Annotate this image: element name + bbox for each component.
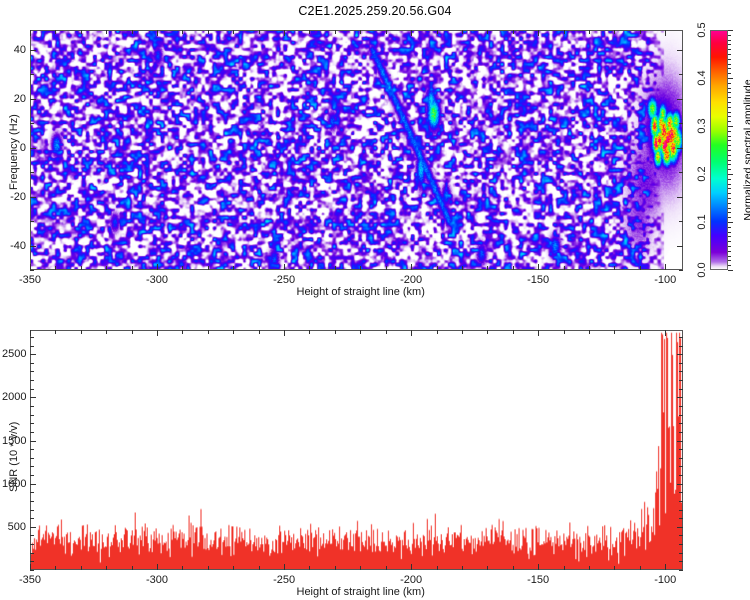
x-minor-bottom bbox=[640, 266, 641, 270]
x-tick bbox=[665, 564, 666, 570]
x-minor-top bbox=[513, 30, 514, 34]
x-minor-top bbox=[259, 330, 260, 334]
colorbar-minor-tick bbox=[728, 102, 731, 103]
x-minor-bottom bbox=[132, 266, 133, 270]
y-tick-right bbox=[677, 50, 683, 51]
colorbar-tick-label: 0.4 bbox=[696, 70, 708, 85]
x-tick-label: -100 bbox=[654, 274, 676, 286]
x-minor-bottom bbox=[208, 566, 209, 570]
spectrogram-image bbox=[31, 31, 682, 269]
x-minor-bottom bbox=[462, 266, 463, 270]
x-minor-bottom bbox=[55, 566, 56, 570]
x-minor-top bbox=[487, 30, 488, 34]
x-minor-top bbox=[487, 330, 488, 334]
x-minor-bottom bbox=[259, 566, 260, 570]
x-minor-bottom bbox=[513, 566, 514, 570]
y-minor-right bbox=[679, 380, 683, 381]
x-minor-top bbox=[437, 30, 438, 34]
y-minor-left bbox=[30, 561, 34, 562]
y-minor-left bbox=[30, 123, 34, 124]
colorbar-label: Normalized spectral amplitude bbox=[742, 79, 750, 220]
x-minor-bottom bbox=[81, 566, 82, 570]
y-minor-right bbox=[679, 501, 683, 502]
colorbar-minor-tick bbox=[728, 40, 731, 41]
y-tick bbox=[30, 354, 36, 355]
colorbar-minor-tick bbox=[728, 68, 731, 69]
y-minor-left bbox=[30, 389, 34, 390]
y-minor-left bbox=[30, 492, 34, 493]
colorbar-minor-tick bbox=[728, 246, 731, 247]
x-minor-top bbox=[513, 330, 514, 334]
colorbar-minor-tick bbox=[728, 92, 731, 93]
y-tick-right bbox=[677, 441, 683, 442]
x-tick bbox=[157, 564, 158, 570]
y-minor-right bbox=[679, 510, 683, 511]
x-tick-label: -300 bbox=[146, 574, 168, 586]
colorbar-minor-tick bbox=[728, 59, 731, 60]
y-tick bbox=[30, 441, 36, 442]
colorbar-minor-tick bbox=[728, 188, 731, 189]
x-minor-bottom bbox=[81, 266, 82, 270]
x-minor-top bbox=[208, 330, 209, 334]
page-title: C2E1.2025.259.20.56.G04 bbox=[0, 4, 750, 18]
x-minor-top bbox=[208, 30, 209, 34]
y-minor-left bbox=[30, 553, 34, 554]
y-minor-left bbox=[30, 270, 34, 271]
colorbar-minor-tick bbox=[728, 256, 731, 257]
y-minor-right bbox=[679, 123, 683, 124]
x-tick bbox=[665, 264, 666, 270]
y-tick-label: 20 bbox=[2, 93, 26, 105]
y-tick bbox=[30, 50, 36, 51]
y-minor-right bbox=[679, 544, 683, 545]
y-minor-right bbox=[679, 466, 683, 467]
spectrogram-plot-area bbox=[30, 30, 683, 270]
x-tick-label: -250 bbox=[273, 274, 295, 286]
colorbar-minor-tick bbox=[728, 160, 731, 161]
y-tick bbox=[30, 99, 36, 100]
y-minor-left bbox=[30, 380, 34, 381]
y-minor-left bbox=[30, 221, 34, 222]
x-minor-bottom bbox=[335, 566, 336, 570]
x-tick-top bbox=[538, 330, 539, 336]
x-minor-top bbox=[614, 30, 615, 34]
y-minor-right bbox=[679, 172, 683, 173]
y-tick-right bbox=[677, 354, 683, 355]
y-minor-right bbox=[679, 363, 683, 364]
y-tick bbox=[30, 197, 36, 198]
x-minor-bottom bbox=[513, 266, 514, 270]
x-tick-label: -200 bbox=[400, 274, 422, 286]
x-minor-top bbox=[360, 30, 361, 34]
y-minor-left bbox=[30, 415, 34, 416]
snr-x-axis-label: Height of straight line (km) bbox=[297, 586, 425, 598]
x-minor-bottom bbox=[259, 266, 260, 270]
x-tick bbox=[284, 264, 285, 270]
y-tick-label: -20 bbox=[2, 191, 26, 203]
colorbar-minor-tick bbox=[728, 236, 731, 237]
x-minor-top bbox=[106, 330, 107, 334]
x-minor-bottom bbox=[233, 566, 234, 570]
x-minor-bottom bbox=[614, 566, 615, 570]
x-minor-top bbox=[309, 330, 310, 334]
colorbar-minor-tick bbox=[728, 145, 731, 146]
x-minor-top bbox=[360, 330, 361, 334]
x-minor-top bbox=[81, 330, 82, 334]
colorbar-minor-tick bbox=[728, 232, 731, 233]
colorbar-minor-tick bbox=[728, 179, 731, 180]
x-minor-bottom bbox=[589, 266, 590, 270]
colorbar-minor-tick bbox=[728, 217, 731, 218]
x-minor-top bbox=[614, 330, 615, 334]
colorbar-minor-tick bbox=[728, 150, 731, 151]
x-tick-top bbox=[411, 30, 412, 36]
x-minor-bottom bbox=[360, 266, 361, 270]
x-minor-top bbox=[335, 30, 336, 34]
x-tick-top bbox=[284, 30, 285, 36]
y-minor-left bbox=[30, 432, 34, 433]
x-tick-label: -100 bbox=[654, 574, 676, 586]
snr-line-series bbox=[31, 331, 682, 569]
x-tick-label: -300 bbox=[146, 274, 168, 286]
x-minor-top bbox=[564, 330, 565, 334]
x-minor-bottom bbox=[132, 566, 133, 570]
colorbar-minor-tick bbox=[728, 83, 731, 84]
colorbar-tick-label: 0.3 bbox=[696, 118, 708, 133]
x-tick-label: -150 bbox=[527, 574, 549, 586]
y-minor-right bbox=[679, 553, 683, 554]
colorbar-minor-tick bbox=[728, 208, 731, 209]
colorbar-minor-tick bbox=[728, 251, 731, 252]
y-minor-right bbox=[679, 432, 683, 433]
x-minor-bottom bbox=[462, 566, 463, 570]
y-minor-right bbox=[679, 221, 683, 222]
x-tick-label: -350 bbox=[19, 574, 41, 586]
colorbar-minor-tick bbox=[728, 88, 731, 89]
x-tick-top bbox=[665, 30, 666, 36]
x-minor-top bbox=[132, 30, 133, 34]
x-minor-bottom bbox=[589, 566, 590, 570]
x-minor-bottom bbox=[55, 266, 56, 270]
x-minor-bottom bbox=[360, 566, 361, 570]
y-minor-left bbox=[30, 74, 34, 75]
x-tick-top bbox=[30, 30, 31, 36]
y-tick bbox=[30, 527, 36, 528]
y-minor-right bbox=[679, 423, 683, 424]
y-tick-right bbox=[677, 148, 683, 149]
y-minor-left bbox=[30, 518, 34, 519]
colorbar-tick-label: 0.1 bbox=[696, 214, 708, 229]
x-tick-top bbox=[665, 330, 666, 336]
colorbar-minor-tick bbox=[728, 265, 731, 266]
colorbar-minor-tick bbox=[728, 203, 731, 204]
y-tick-right bbox=[677, 197, 683, 198]
x-minor-top bbox=[386, 330, 387, 334]
colorbar-minor-tick bbox=[728, 169, 731, 170]
colorbar-tick bbox=[728, 126, 733, 127]
x-tick bbox=[411, 264, 412, 270]
x-minor-top bbox=[81, 30, 82, 34]
x-minor-bottom bbox=[335, 266, 336, 270]
y-minor-right bbox=[679, 475, 683, 476]
x-minor-bottom bbox=[437, 266, 438, 270]
colorbar-minor-tick bbox=[728, 97, 731, 98]
y-minor-left bbox=[30, 172, 34, 173]
x-minor-top bbox=[386, 30, 387, 34]
x-minor-bottom bbox=[106, 266, 107, 270]
snr-y-axis-label: SNR (10 * v/v) bbox=[8, 422, 20, 492]
y-minor-left bbox=[30, 423, 34, 424]
y-tick bbox=[30, 246, 36, 247]
y-tick-label: -40 bbox=[2, 240, 26, 252]
x-minor-bottom bbox=[309, 266, 310, 270]
x-minor-bottom bbox=[182, 566, 183, 570]
colorbar-minor-tick bbox=[728, 136, 731, 137]
x-minor-top bbox=[335, 330, 336, 334]
x-minor-bottom bbox=[564, 566, 565, 570]
x-tick-top bbox=[538, 30, 539, 36]
y-minor-left bbox=[30, 501, 34, 502]
y-minor-left bbox=[30, 346, 34, 347]
colorbar-minor-tick bbox=[728, 44, 731, 45]
x-minor-bottom bbox=[437, 566, 438, 570]
x-tick-top bbox=[411, 330, 412, 336]
y-minor-left bbox=[30, 458, 34, 459]
colorbar-minor-tick bbox=[728, 241, 731, 242]
colorbar-minor-tick bbox=[728, 155, 731, 156]
snr-plot-area bbox=[30, 330, 683, 570]
x-tick bbox=[538, 264, 539, 270]
x-minor-bottom bbox=[106, 566, 107, 570]
x-minor-top bbox=[259, 30, 260, 34]
colorbar-minor-tick bbox=[728, 35, 731, 36]
y-minor-left bbox=[30, 535, 34, 536]
x-minor-top bbox=[233, 330, 234, 334]
y-minor-right bbox=[679, 518, 683, 519]
colorbar-minor-tick bbox=[728, 131, 731, 132]
x-minor-top bbox=[55, 30, 56, 34]
x-minor-top bbox=[132, 330, 133, 334]
y-minor-left bbox=[30, 337, 34, 338]
spectrogram-x-axis-label: Height of straight line (km) bbox=[297, 286, 425, 298]
x-minor-bottom bbox=[233, 266, 234, 270]
colorbar-tick-label: 0.5 bbox=[696, 22, 708, 37]
x-minor-top bbox=[182, 30, 183, 34]
x-minor-top bbox=[182, 330, 183, 334]
y-minor-right bbox=[679, 270, 683, 271]
y-tick-label: 2000 bbox=[2, 391, 26, 403]
colorbar-tick bbox=[728, 78, 733, 79]
colorbar-minor-tick bbox=[728, 260, 731, 261]
y-minor-left bbox=[30, 466, 34, 467]
x-tick-top bbox=[284, 330, 285, 336]
x-minor-bottom bbox=[386, 566, 387, 570]
x-minor-bottom bbox=[208, 266, 209, 270]
y-minor-left bbox=[30, 475, 34, 476]
x-minor-top bbox=[640, 30, 641, 34]
y-tick-label: 2500 bbox=[2, 348, 26, 360]
y-minor-right bbox=[679, 561, 683, 562]
x-tick-top bbox=[157, 30, 158, 36]
colorbar-minor-tick bbox=[728, 193, 731, 194]
y-minor-right bbox=[679, 535, 683, 536]
x-minor-top bbox=[309, 30, 310, 34]
x-tick-label: -350 bbox=[19, 274, 41, 286]
colorbar-minor-tick bbox=[728, 121, 731, 122]
colorbar-tick bbox=[728, 222, 733, 223]
x-minor-bottom bbox=[386, 266, 387, 270]
colorbar-minor-tick bbox=[728, 164, 731, 165]
colorbar-tick bbox=[728, 30, 733, 31]
colorbar-minor-tick bbox=[728, 49, 731, 50]
y-tick-right bbox=[677, 484, 683, 485]
x-minor-bottom bbox=[564, 266, 565, 270]
y-tick-right bbox=[677, 246, 683, 247]
x-tick-label: -150 bbox=[527, 274, 549, 286]
y-minor-right bbox=[679, 415, 683, 416]
x-minor-top bbox=[437, 330, 438, 334]
y-tick-label: 500 bbox=[2, 521, 26, 533]
x-minor-top bbox=[106, 30, 107, 34]
y-tick bbox=[30, 148, 36, 149]
x-minor-top bbox=[233, 30, 234, 34]
x-minor-top bbox=[640, 330, 641, 334]
colorbar-tick bbox=[728, 270, 733, 271]
y-minor-left bbox=[30, 544, 34, 545]
x-tick bbox=[284, 564, 285, 570]
colorbar-tick-label: 0.0 bbox=[696, 262, 708, 277]
x-minor-top bbox=[589, 330, 590, 334]
y-minor-right bbox=[679, 74, 683, 75]
colorbar bbox=[710, 30, 728, 270]
colorbar-minor-tick bbox=[728, 140, 731, 141]
y-minor-right bbox=[679, 371, 683, 372]
x-minor-bottom bbox=[182, 266, 183, 270]
x-tick-label: -200 bbox=[400, 574, 422, 586]
y-minor-right bbox=[679, 570, 683, 571]
x-minor-bottom bbox=[487, 266, 488, 270]
y-minor-left bbox=[30, 406, 34, 407]
x-minor-top bbox=[462, 330, 463, 334]
colorbar-minor-tick bbox=[728, 198, 731, 199]
x-minor-bottom bbox=[614, 266, 615, 270]
colorbar-minor-tick bbox=[728, 54, 731, 55]
y-tick-right bbox=[677, 397, 683, 398]
x-minor-bottom bbox=[487, 566, 488, 570]
x-minor-top bbox=[55, 330, 56, 334]
y-minor-right bbox=[679, 449, 683, 450]
x-tick-label: -250 bbox=[273, 574, 295, 586]
y-minor-right bbox=[679, 389, 683, 390]
x-tick bbox=[538, 564, 539, 570]
y-tick bbox=[30, 484, 36, 485]
x-minor-bottom bbox=[640, 566, 641, 570]
y-tick-right bbox=[677, 99, 683, 100]
y-minor-left bbox=[30, 449, 34, 450]
y-minor-right bbox=[679, 492, 683, 493]
colorbar-tick-label: 0.2 bbox=[696, 166, 708, 181]
x-tick-top bbox=[30, 330, 31, 336]
y-tick-right bbox=[677, 527, 683, 528]
x-minor-top bbox=[564, 30, 565, 34]
colorbar-minor-tick bbox=[728, 64, 731, 65]
colorbar-minor-tick bbox=[728, 212, 731, 213]
figure-canvas: C2E1.2025.259.20.56.G04 -350-300-250-200… bbox=[0, 0, 750, 600]
x-minor-bottom bbox=[309, 566, 310, 570]
colorbar-minor-tick bbox=[728, 227, 731, 228]
y-minor-left bbox=[30, 363, 34, 364]
y-minor-right bbox=[679, 346, 683, 347]
y-minor-left bbox=[30, 570, 34, 571]
y-minor-right bbox=[679, 337, 683, 338]
colorbar-minor-tick bbox=[728, 116, 731, 117]
x-tick bbox=[411, 564, 412, 570]
y-minor-right bbox=[679, 406, 683, 407]
y-minor-left bbox=[30, 371, 34, 372]
y-minor-left bbox=[30, 510, 34, 511]
y-minor-right bbox=[679, 458, 683, 459]
colorbar-minor-tick bbox=[728, 112, 731, 113]
x-minor-top bbox=[589, 30, 590, 34]
x-tick bbox=[157, 264, 158, 270]
x-tick-top bbox=[157, 330, 158, 336]
colorbar-minor-tick bbox=[728, 73, 731, 74]
y-tick bbox=[30, 397, 36, 398]
colorbar-tick bbox=[728, 174, 733, 175]
y-tick-label: 40 bbox=[2, 44, 26, 56]
x-minor-top bbox=[462, 30, 463, 34]
spectrogram-y-axis-label: Frequency (Hz) bbox=[8, 114, 20, 190]
colorbar-minor-tick bbox=[728, 107, 731, 108]
colorbar-minor-tick bbox=[728, 184, 731, 185]
